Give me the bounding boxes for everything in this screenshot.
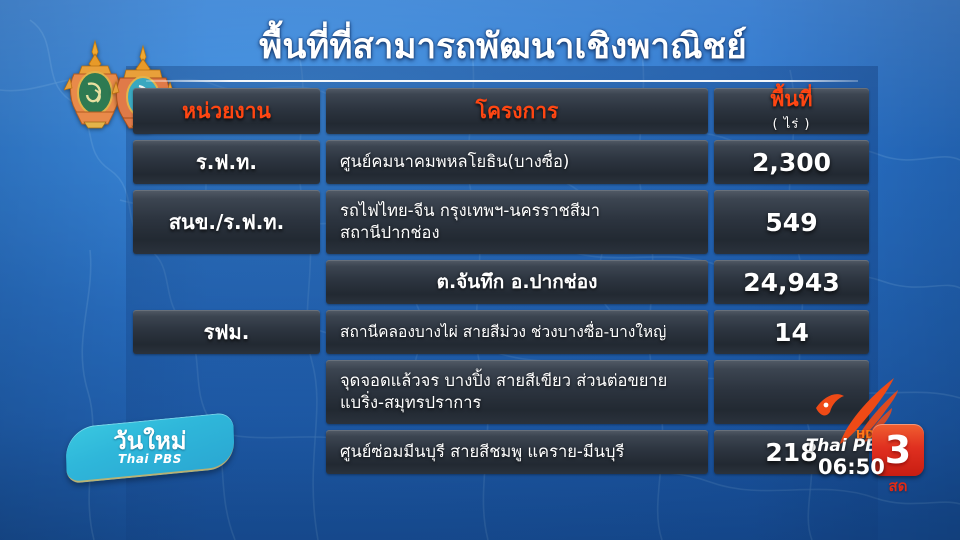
- commercial-development-area-table: หน่วยงาน โครงการ พื้นที่ ( ไร่ ) ร.ฟ.ท. …: [133, 88, 869, 480]
- title-divider: [146, 80, 858, 82]
- header-cell-project: โครงการ: [326, 88, 708, 134]
- table-row: ต.จันทึก อ.ปากช่อง 24,943: [133, 260, 869, 304]
- project-value: ศูนย์ซ่อมมีนบุรี สายสีชมพู แคราย-มีนบุรี: [340, 441, 624, 463]
- project-value: สถานีคลองบางไผ่ สายสีม่วง ช่วงบางซื่อ-บา…: [340, 321, 666, 343]
- program-logo: วันใหม่ Thai PBS: [65, 412, 234, 484]
- project-value: ต.จันทึก อ.ปากช่อง: [340, 271, 694, 293]
- area-value: 14: [714, 318, 869, 347]
- table-row: สนข./ร.ฟ.ท. รถไฟไทย-จีน กรุงเทพฯ-นครราชส…: [133, 190, 869, 254]
- table-row: จุดจอดแล้วจร บางปิ้ง สายสีเขียว ส่วนต่อข…: [133, 360, 869, 424]
- cell-area: 24,943: [714, 260, 869, 304]
- cell-agency: รฟม.: [133, 310, 320, 354]
- table-row: รฟม. สถานีคลองบางไผ่ สายสีม่วง ช่วงบางซื…: [133, 310, 869, 354]
- header-area-unit: ( ไร่ ): [714, 113, 869, 134]
- cell-project: จุดจอดแล้วจร บางปิ้ง สายสีเขียว ส่วนต่อข…: [326, 360, 708, 424]
- cell-agency: สนข./ร.ฟ.ท.: [133, 190, 320, 254]
- project-value-line2: สถานีปากช่อง: [340, 222, 600, 244]
- area-value: 2,300: [714, 148, 869, 177]
- channel-number: 3: [885, 431, 911, 469]
- project-value: จุดจอดแล้วจร บางปิ้ง สายสีเขียว ส่วนต่อข…: [340, 370, 667, 392]
- header-agency-label: หน่วยงาน: [133, 101, 320, 122]
- cell-agency-empty: [133, 360, 320, 424]
- cell-area: 549: [714, 190, 869, 254]
- header-cell-agency: หน่วยงาน: [133, 88, 320, 134]
- clock: 06:50: [818, 455, 885, 479]
- cell-project: ศูนย์ซ่อมมีนบุรี สายสีชมพู แคราย-มีนบุรี: [326, 430, 708, 474]
- cell-project: รถไฟไทย-จีน กรุงเทพฯ-นครราชสีมา สถานีปาก…: [326, 190, 708, 254]
- cell-project: สถานีคลองบางไผ่ สายสีม่วง ช่วงบางซื่อ-บา…: [326, 310, 708, 354]
- cell-agency-empty: [133, 260, 320, 304]
- program-name: วันใหม่: [113, 429, 186, 453]
- header-area-label: พื้นที่: [770, 87, 812, 111]
- table-row: ศูนย์ซ่อมมีนบุรี สายสีชมพู แคราย-มีนบุรี…: [133, 430, 869, 474]
- agency-value: รฟม.: [204, 316, 250, 348]
- cell-project: ศูนย์คมนาคมพหลโยธิน(บางซื่อ): [326, 140, 708, 184]
- program-network-label: Thai PBS: [118, 451, 182, 465]
- area-value: 24,943: [714, 268, 869, 297]
- project-value: ศูนย์คมนาคมพหลโยธิน(บางซื่อ): [340, 152, 569, 171]
- page-title: พื้นที่ที่สามารถพัฒนาเชิงพาณิชย์: [128, 22, 878, 74]
- agency-value: ร.ฟ.ท.: [196, 146, 257, 178]
- project-value: รถไฟไทย-จีน กรุงเทพฯ-นครราชสีมา: [340, 200, 600, 222]
- agency-value: สนข./ร.ฟ.ท.: [169, 206, 284, 238]
- header-project-label: โครงการ: [340, 101, 694, 122]
- cell-area: 2,300: [714, 140, 869, 184]
- table-header-row: หน่วยงาน โครงการ พื้นที่ ( ไร่ ): [133, 88, 869, 134]
- header-cell-area: พื้นที่ ( ไร่ ): [714, 88, 869, 134]
- project-value-line2: แบริ่ง-สมุทรปราการ: [340, 392, 667, 414]
- cell-area: 14: [714, 310, 869, 354]
- cell-project: ต.จันทึก อ.ปากช่อง: [326, 260, 708, 304]
- cell-agency: ร.ฟ.ท.: [133, 140, 320, 184]
- area-value: 549: [714, 208, 869, 237]
- page-title-text: พื้นที่ที่สามารถพัฒนาเชิงพาณิชย์: [128, 22, 878, 72]
- table-row: ร.ฟ.ท. ศูนย์คมนาคมพหลโยธิน(บางซื่อ) 2,30…: [133, 140, 869, 184]
